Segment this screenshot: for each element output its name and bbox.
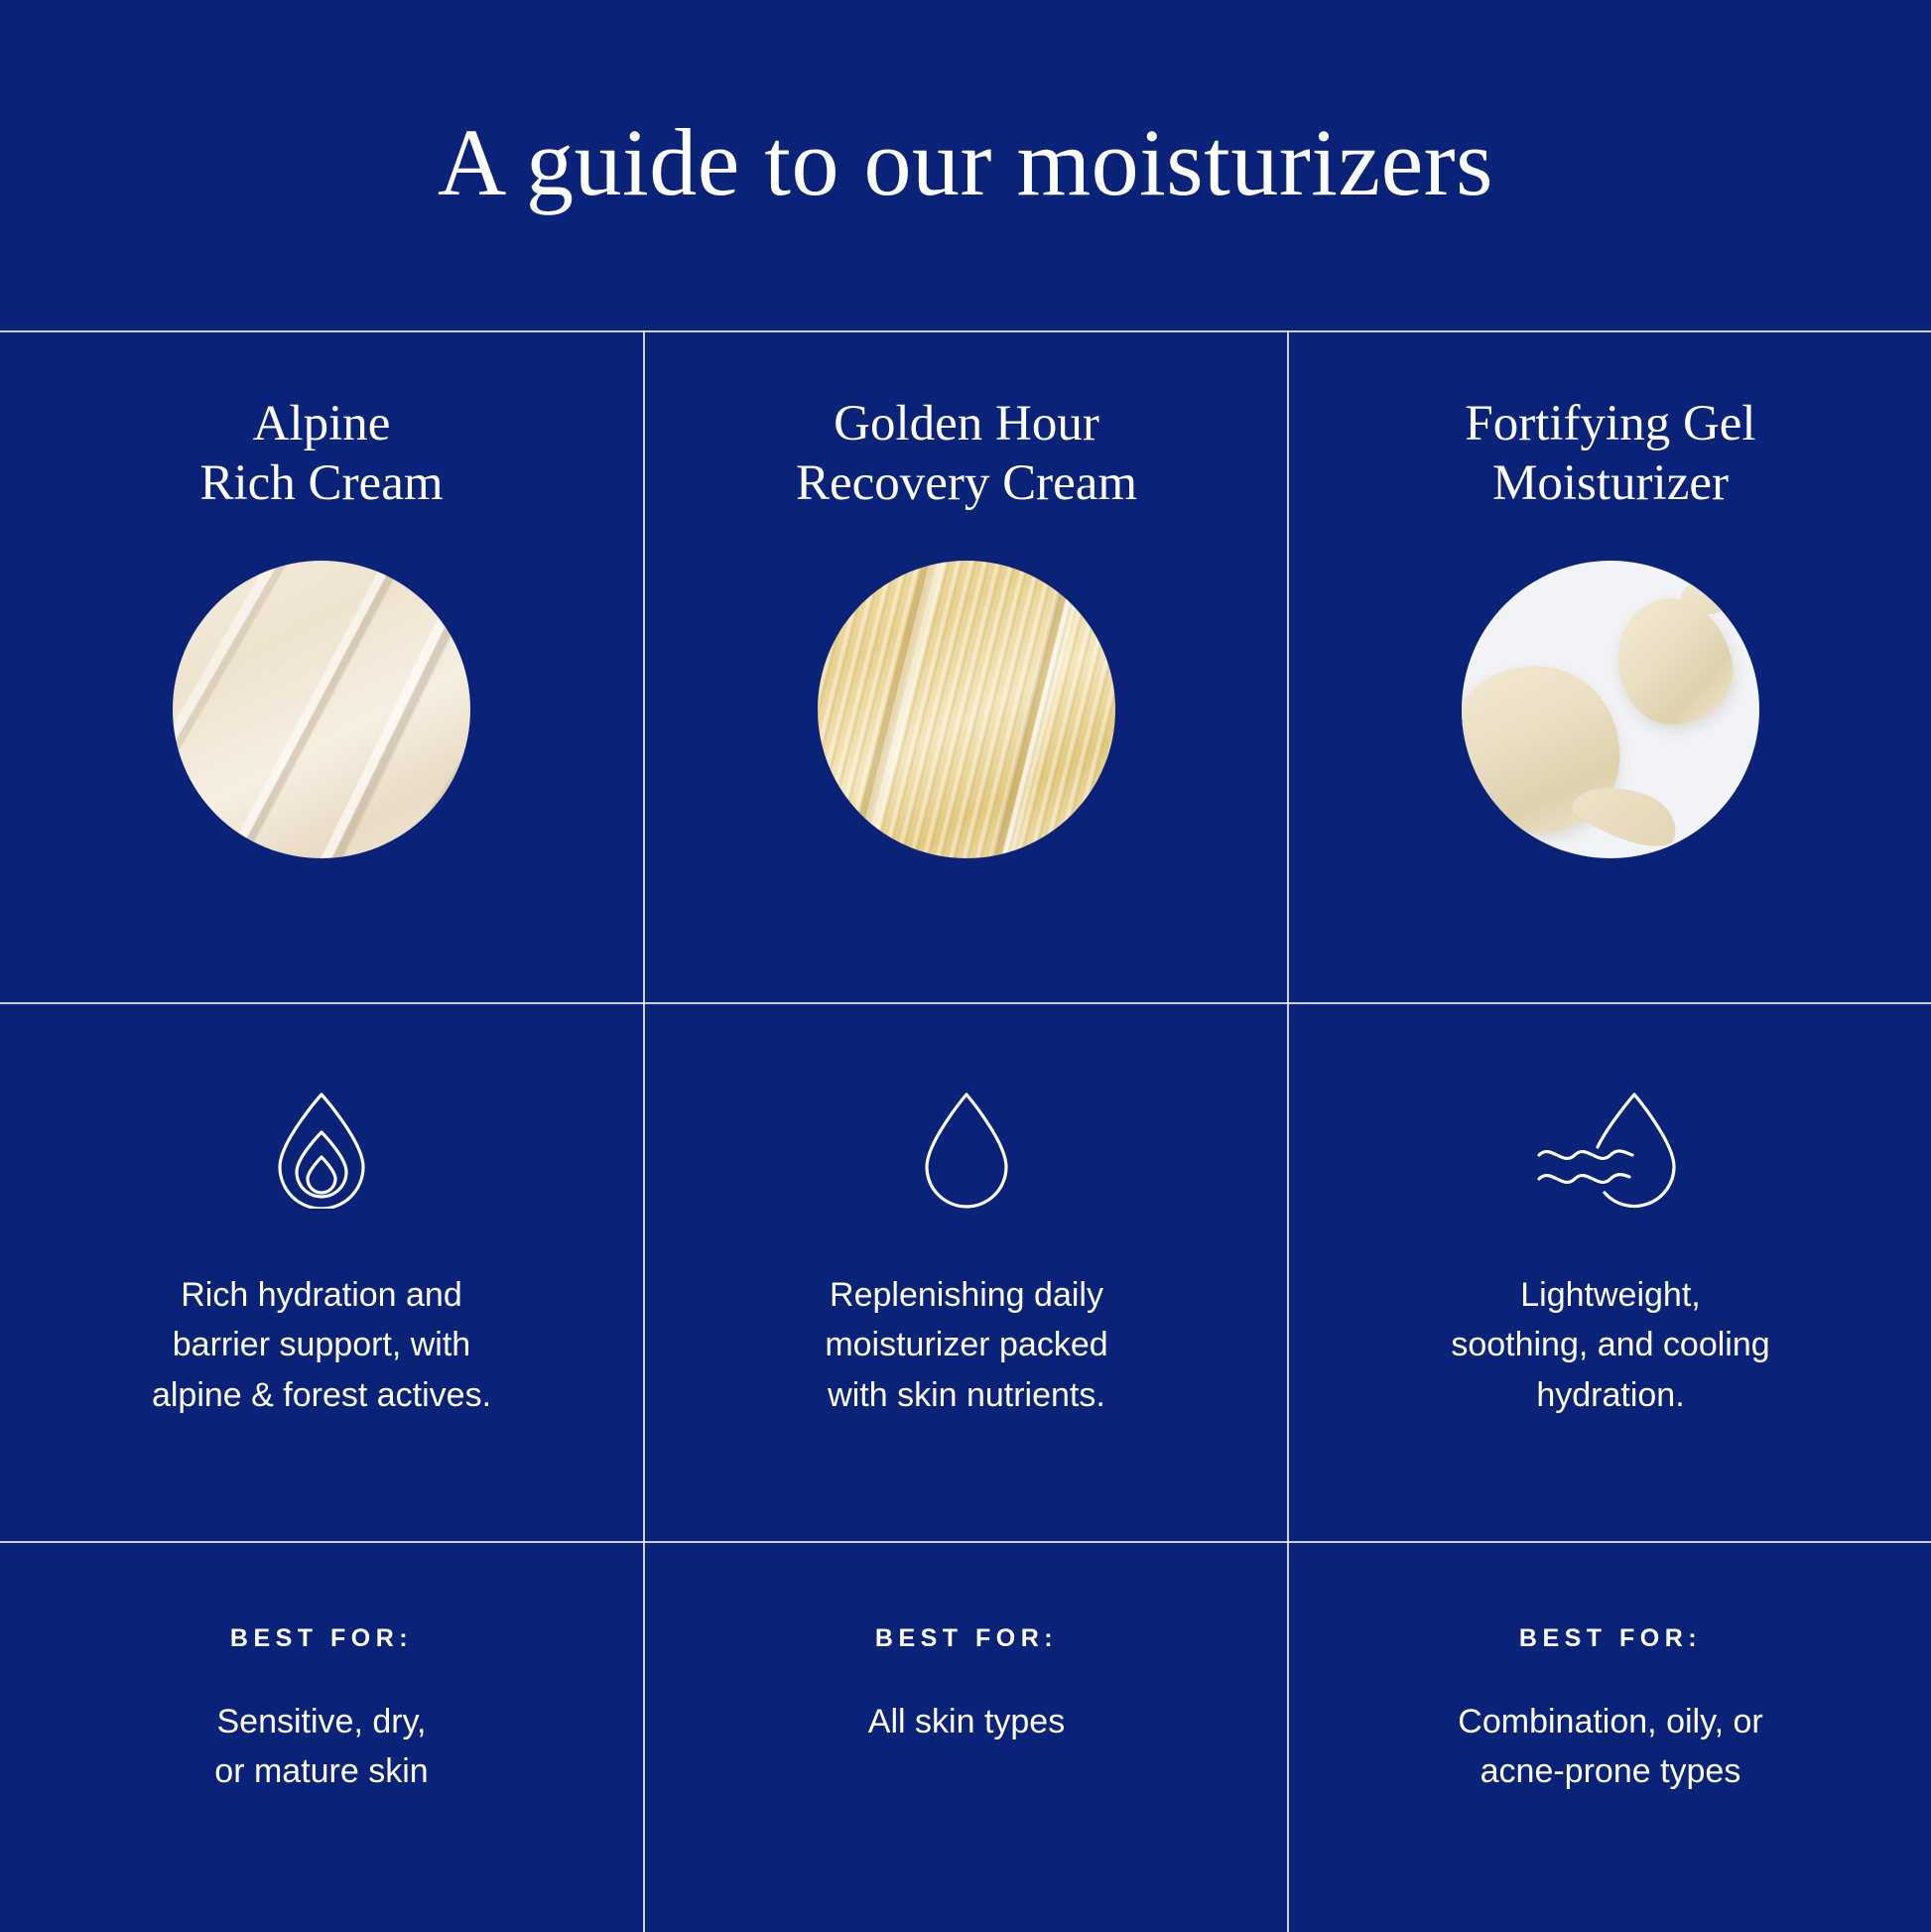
product-best-for-cell: BEST FOR: All skin types [645,1541,1288,1932]
gel-dollop-small [1602,584,1745,737]
product-benefit-cell: Replenishing daily moisturizer packed wi… [645,1002,1288,1541]
product-name: Alpine Rich Cream [199,394,443,513]
header: A guide to our moisturizers [0,0,1931,330]
page-title: A guide to our moisturizers [438,110,1493,215]
product-swatch-image [818,561,1115,858]
product-swatch-image [173,561,470,858]
best-for-label: BEST FOR: [1519,1624,1702,1653]
moisturizer-guide-infographic: A guide to our moisturizers Alpine Rich … [0,0,1931,1932]
product-swatch-image [1462,561,1759,858]
product-header-cell: Fortifying Gel Moisturizer [1289,330,1931,1002]
product-benefit-cell: Lightweight, soothing, and cooling hydra… [1289,1002,1931,1541]
product-name: Fortifying Gel Moisturizer [1465,394,1755,513]
product-best-for-cell: BEST FOR: Sensitive, dry, or mature skin [0,1541,643,1932]
best-for-label: BEST FOR: [875,1624,1058,1653]
product-column-golden-hour-recovery-cream: Golden Hour Recovery Cream Replenishing … [645,330,1288,1932]
product-benefit-cell: Rich hydration and barrier support, with… [0,1002,643,1541]
best-for-label: BEST FOR: [230,1624,413,1653]
product-best-for-cell: BEST FOR: Combination, oily, or acne-pro… [1289,1541,1931,1932]
gel-dollop-large [1462,658,1628,841]
best-for-value: Combination, oily, or acne-prone types [1458,1697,1762,1797]
product-column-alpine-rich-cream: Alpine Rich Cream Rich hydration and bar… [0,330,643,1932]
best-for-value: Sensitive, dry, or mature skin [214,1697,428,1797]
product-column-fortifying-gel-moisturizer: Fortifying Gel Moisturizer Lightweight, … [1289,330,1931,1932]
droplet-waves-icon [1525,1086,1696,1209]
product-header-cell: Golden Hour Recovery Cream [645,330,1288,1002]
product-name: Golden Hour Recovery Cream [796,394,1137,513]
droplet-outline-icon [917,1086,1016,1209]
product-description: Replenishing daily moisturizer packed wi… [825,1270,1107,1420]
best-for-value: All skin types [868,1697,1065,1746]
product-description: Lightweight, soothing, and cooling hydra… [1451,1270,1769,1420]
droplet-nested-icon [268,1086,375,1209]
product-description: Rich hydration and barrier support, with… [152,1270,491,1420]
product-header-cell: Alpine Rich Cream [0,330,643,1002]
